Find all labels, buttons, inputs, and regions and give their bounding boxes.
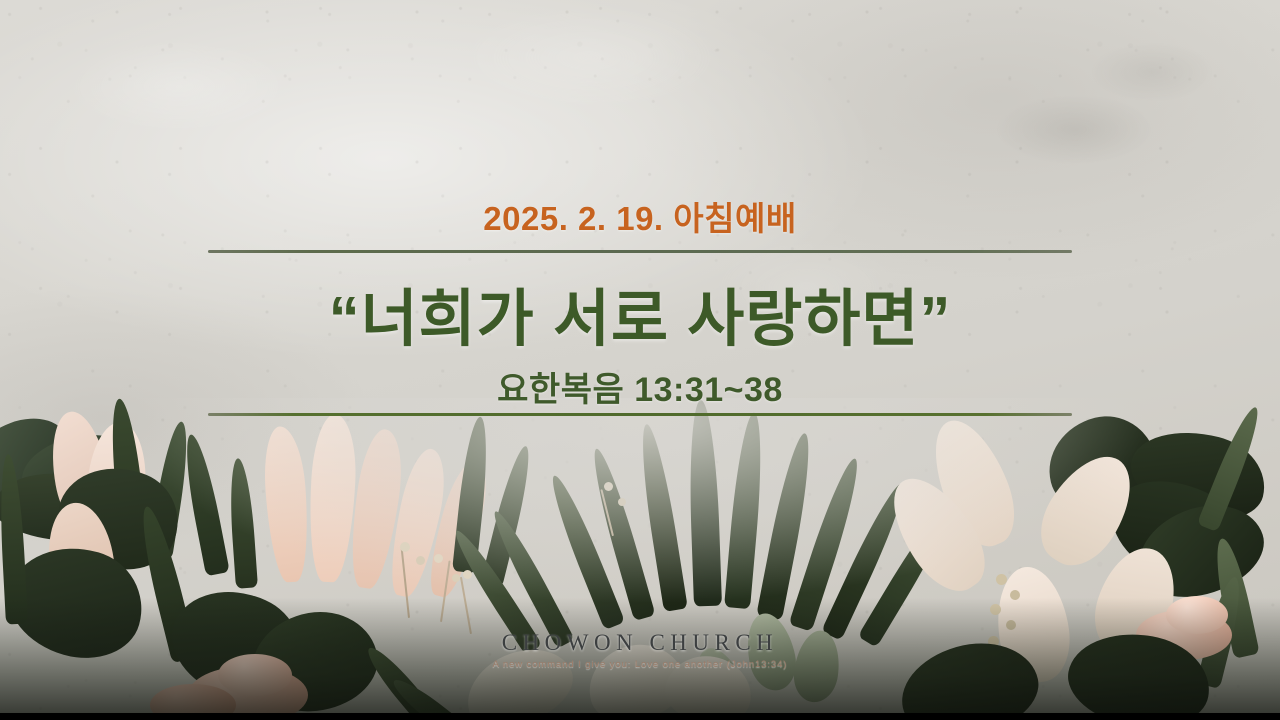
divider-line-bottom	[208, 413, 1072, 416]
letterbox-bar-bottom	[0, 713, 1280, 720]
slide-text-content: 2025. 2. 19. 아침예배 “너희가 서로 사랑하면” 요한복음 13:…	[0, 0, 1280, 720]
divider-line-top	[208, 250, 1072, 253]
church-name: CHOWON CHURCH	[0, 630, 1280, 656]
sermon-title: “너희가 서로 사랑하면”	[0, 268, 1280, 358]
worship-slide: 2025. 2. 19. 아침예배 “너희가 서로 사랑하면” 요한복음 13:…	[0, 0, 1280, 720]
scripture-reference: 요한복음 13:31~38	[0, 362, 1280, 411]
church-logo: CHOWON CHURCH A new command I give you: …	[0, 630, 1280, 670]
service-date-line: 2025. 2. 19. 아침예배	[0, 192, 1280, 240]
church-tagline: A new command I give you: Love one anoth…	[0, 659, 1280, 670]
